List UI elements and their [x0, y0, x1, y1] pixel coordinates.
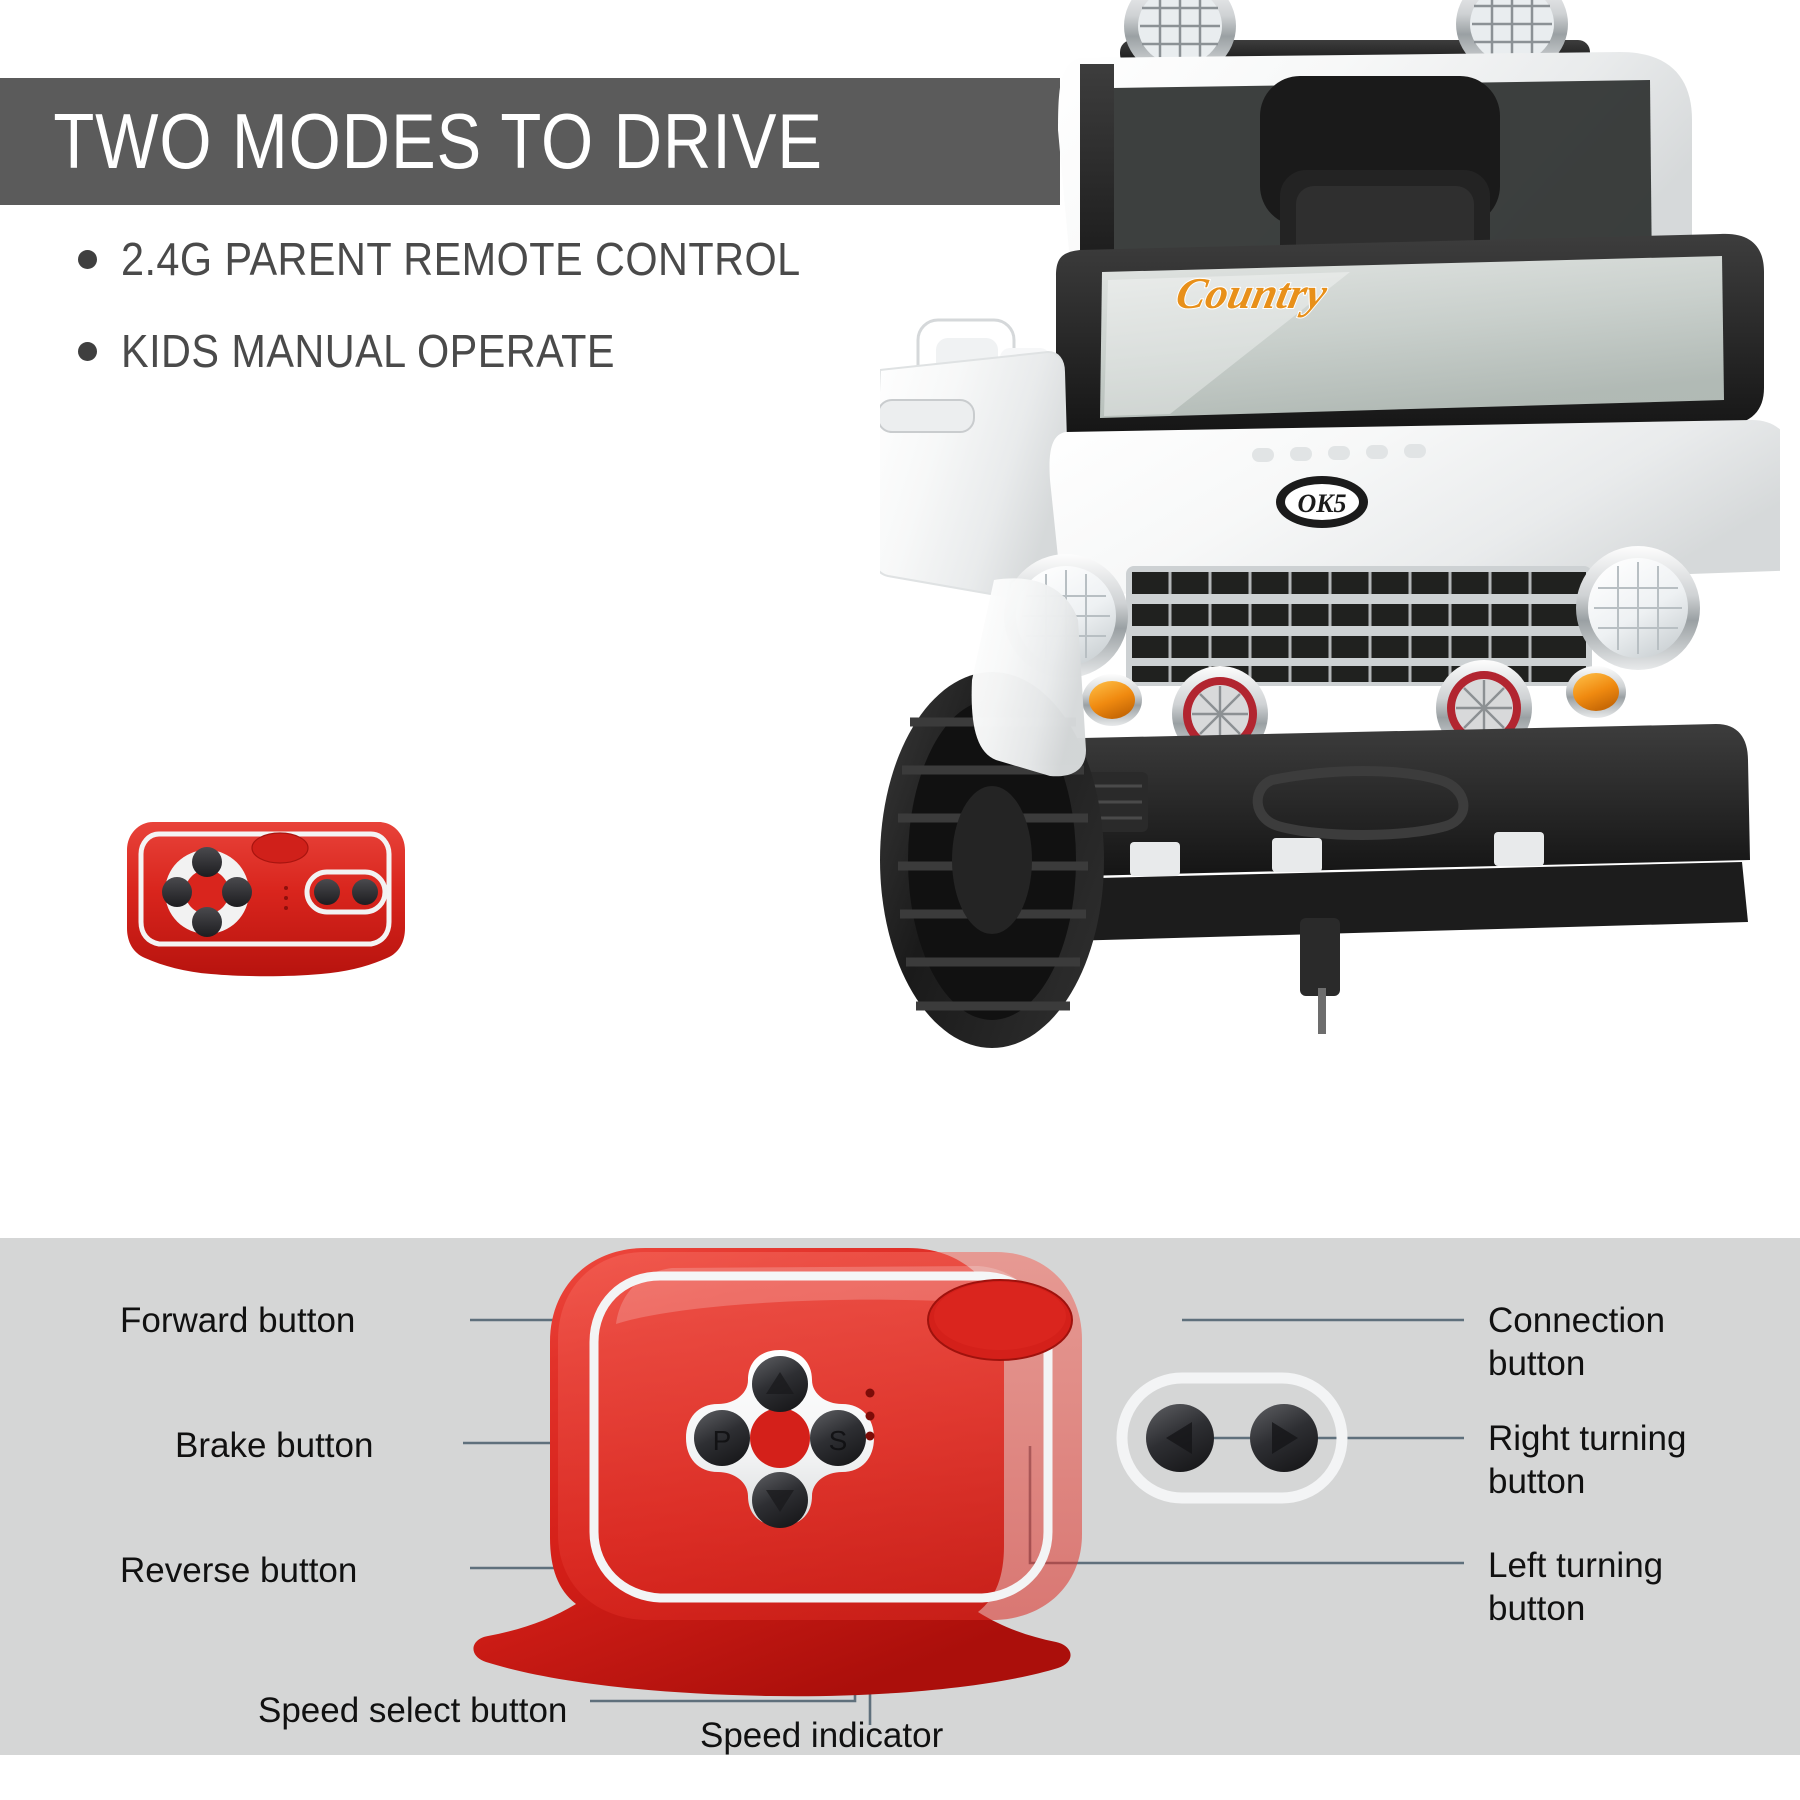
- connection-button[interactable]: [928, 1280, 1072, 1360]
- callout-leftturn-line2: button: [1488, 1588, 1663, 1631]
- svg-text:Country: Country: [1172, 268, 1332, 317]
- dpad-center: [750, 1408, 810, 1468]
- feature-label: KIDS MANUAL OPERATE: [121, 324, 615, 378]
- list-item: KIDS MANUAL OPERATE: [78, 324, 876, 378]
- svg-text:S: S: [829, 1425, 848, 1456]
- front-fender: [972, 578, 1086, 776]
- callout-rightturn-line2: button: [1488, 1461, 1686, 1504]
- callout-speed-indicator: Speed indicator: [700, 1715, 943, 1758]
- reverse-button[interactable]: [752, 1472, 808, 1528]
- callout-brake-button: Brake button: [175, 1425, 373, 1468]
- bullet-icon: [78, 342, 97, 361]
- callout-leftturn-line1: Left turning: [1488, 1545, 1663, 1588]
- brake-button[interactable]: P: [694, 1410, 750, 1466]
- left-turning-button[interactable]: [1146, 1404, 1214, 1472]
- callout-connection-line1: Connection: [1488, 1300, 1665, 1343]
- callout-rightturn-line1: Right turning: [1488, 1418, 1686, 1461]
- right-turning-button[interactable]: [1250, 1404, 1318, 1472]
- turn-signal-right: [1566, 666, 1626, 718]
- remote-control-preview: [115, 810, 415, 990]
- callout-connection-line2: button: [1488, 1343, 1665, 1386]
- feature-label: 2.4G PARENT REMOTE CONTROL: [121, 232, 801, 286]
- list-item: 2.4G PARENT REMOTE CONTROL: [78, 232, 876, 286]
- windshield-logo: Country: [1172, 268, 1332, 317]
- top-feature-section: TWO MODES TO DRIVE 2.4G PARENT REMOTE CO…: [0, 0, 1800, 1238]
- bumper-reflector-right: [1494, 832, 1544, 866]
- callout-speed-select-button: Speed select button: [258, 1690, 567, 1733]
- callout-right-turning-button: Right turning button: [1488, 1418, 1686, 1503]
- headlight-right: [1576, 546, 1700, 670]
- svg-text:P: P: [713, 1425, 732, 1456]
- callout-forward-button: Forward button: [120, 1300, 355, 1343]
- feature-list: 2.4G PARENT REMOTE CONTROL KIDS MANUAL O…: [78, 232, 876, 416]
- bumper-reflector-left: [1130, 842, 1180, 876]
- ride-on-car-image: Country OK5 Cross: [880, 0, 1780, 1070]
- callout-reverse-button: Reverse button: [120, 1550, 357, 1593]
- callout-left-turning-button: Left turning button: [1488, 1545, 1663, 1630]
- forward-button[interactable]: [752, 1356, 808, 1412]
- turn-signal-left: [1082, 674, 1142, 726]
- page-title: TWO MODES TO DRIVE: [0, 96, 823, 187]
- svg-text:OK5: OK5: [1297, 489, 1346, 518]
- bullet-icon: [78, 250, 97, 269]
- door-handle: [880, 400, 974, 432]
- hood-badge: OK5: [1276, 476, 1368, 528]
- callout-connection-button: Connection button: [1488, 1300, 1665, 1385]
- speed-select-button[interactable]: S: [810, 1410, 866, 1466]
